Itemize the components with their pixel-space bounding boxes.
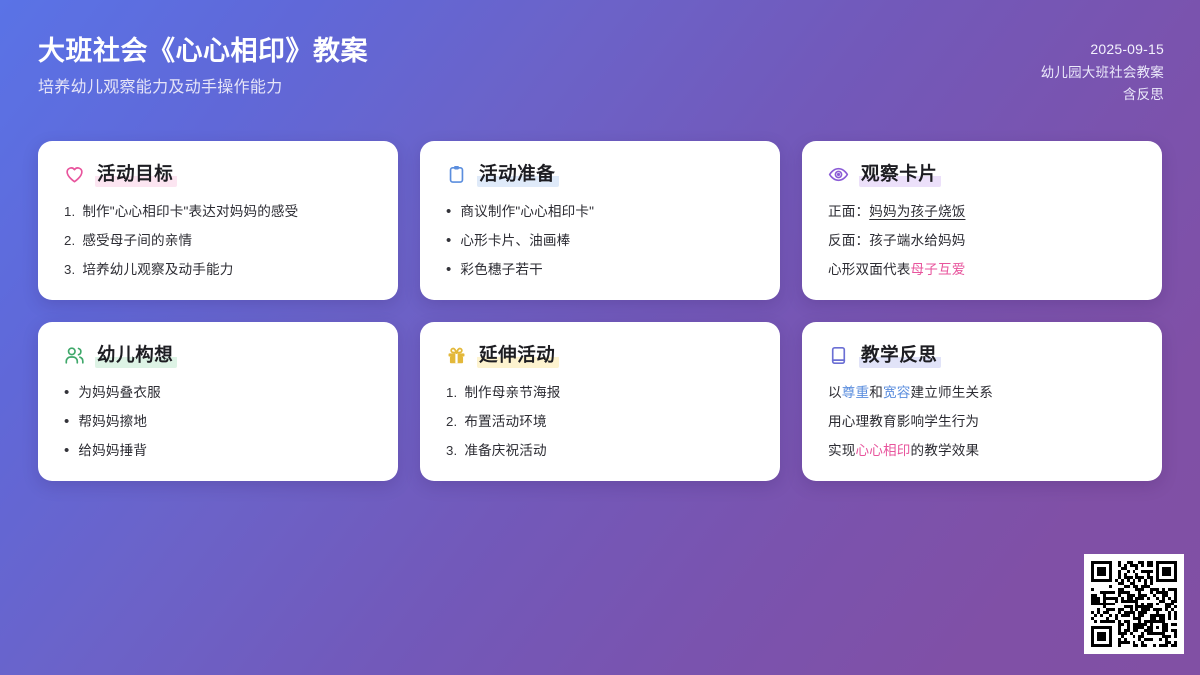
list-marker: •	[64, 385, 69, 400]
card-title: 活动目标	[95, 162, 177, 187]
qr-code[interactable]	[1084, 554, 1184, 654]
card-header: 活动目标	[64, 162, 374, 187]
list-item-text: 制作"心心相印卡"表达对妈妈的感受	[82, 203, 374, 221]
card-line: 心形双面代表母子互爱	[828, 261, 1138, 279]
header-left: 大班社会《心心相印》教案 培养幼儿观察能力及动手操作能力	[38, 34, 368, 98]
line-text: 建立师生关系	[911, 385, 993, 400]
book-icon	[828, 345, 849, 366]
line-text: 实现	[828, 443, 856, 458]
list-item-text: 准备庆祝活动	[464, 442, 756, 460]
card-line: 实现心心相印的教学效果	[828, 442, 1138, 460]
list-marker: •	[64, 414, 69, 429]
line-text: 以	[828, 385, 842, 400]
list-item: •商议制作"心心相印卡"	[446, 203, 756, 221]
card-activity-preparation: 活动准备•商议制作"心心相印卡"•心形卡片、油画棒•彩色穗子若干	[420, 141, 780, 300]
list-item-text: 为妈妈叠衣服	[78, 384, 374, 402]
list-item: •彩色穗子若干	[446, 261, 756, 279]
list-item: 3.培养幼儿观察及动手能力	[64, 261, 374, 279]
meta-date: 2025-09-15	[1090, 38, 1164, 62]
line-text: 正面：	[828, 204, 869, 219]
card-observation-card: 观察卡片正面：妈妈为孩子烧饭反面：孩子端水给妈妈心形双面代表母子互爱	[802, 141, 1162, 300]
list-item-text: 布置活动环境	[464, 413, 756, 431]
card-line: 正面：妈妈为孩子烧饭	[828, 203, 1138, 221]
card-title: 教学反思	[859, 343, 941, 368]
card-line: 以尊重和宽容建立师生关系	[828, 384, 1138, 402]
list-item-text: 制作母亲节海报	[464, 384, 756, 402]
emphasis-underline: 妈妈为孩子烧饭	[869, 204, 965, 219]
card-header: 教学反思	[828, 343, 1138, 368]
card-title: 观察卡片	[859, 162, 941, 187]
card-body: •商议制作"心心相印卡"•心形卡片、油画棒•彩色穗子若干	[446, 203, 756, 279]
gift-icon	[446, 345, 467, 366]
page-title: 大班社会《心心相印》教案	[38, 34, 368, 69]
list-marker: 3.	[446, 442, 457, 460]
card-children-ideas: 幼儿构想•为妈妈叠衣服•帮妈妈擦地•给妈妈捶背	[38, 322, 398, 481]
meta-note: 含反思	[1123, 84, 1164, 107]
list-item: •帮妈妈擦地	[64, 413, 374, 431]
card-line: 反面：孩子端水给妈妈	[828, 232, 1138, 250]
list-item-text: 彩色穗子若干	[460, 261, 756, 279]
line-text: 心形双面代表	[828, 262, 910, 277]
list-item: 1.制作母亲节海报	[446, 384, 756, 402]
users-icon	[64, 345, 85, 366]
list-item: 1.制作"心心相印卡"表达对妈妈的感受	[64, 203, 374, 221]
card-header: 延伸活动	[446, 343, 756, 368]
list-item: •心形卡片、油画棒	[446, 232, 756, 250]
line-text: 反面：孩子端水给妈妈	[828, 233, 965, 248]
list-marker: •	[446, 262, 451, 277]
list-item-text: 心形卡片、油画棒	[460, 232, 756, 250]
list-item: •给妈妈捶背	[64, 442, 374, 460]
list-item: 2.感受母子间的亲情	[64, 232, 374, 250]
card-title: 活动准备	[477, 162, 559, 187]
card-header: 观察卡片	[828, 162, 1138, 187]
list-marker: •	[446, 204, 451, 219]
card-grid: 活动目标1.制作"心心相印卡"表达对妈妈的感受2.感受母子间的亲情3.培养幼儿观…	[38, 141, 1162, 481]
page-header: 大班社会《心心相印》教案 培养幼儿观察能力及动手操作能力 2025-09-15 …	[0, 0, 1200, 130]
list-marker: •	[64, 443, 69, 458]
card-header: 活动准备	[446, 162, 756, 187]
line-text: 和	[869, 385, 883, 400]
card-body: 1.制作"心心相印卡"表达对妈妈的感受2.感受母子间的亲情3.培养幼儿观察及动手…	[64, 203, 374, 279]
card-body: •为妈妈叠衣服•帮妈妈擦地•给妈妈捶背	[64, 384, 374, 460]
list-marker: 3.	[64, 261, 75, 279]
card-extended-activity: 延伸活动1.制作母亲节海报2.布置活动环境3.准备庆祝活动	[420, 322, 780, 481]
list-item-text: 给妈妈捶背	[78, 442, 374, 460]
card-body: 正面：妈妈为孩子烧饭反面：孩子端水给妈妈心形双面代表母子互爱	[828, 203, 1138, 279]
list-item-text: 商议制作"心心相印卡"	[460, 203, 756, 221]
heart-icon	[64, 164, 85, 185]
list-item: 2.布置活动环境	[446, 413, 756, 431]
page-subtitle: 培养幼儿观察能力及动手操作能力	[38, 78, 368, 99]
list-item: 3.准备庆祝活动	[446, 442, 756, 460]
meta-category: 幼儿园大班社会教案	[1041, 62, 1164, 85]
list-item: •为妈妈叠衣服	[64, 384, 374, 402]
emphasis-blue: 尊重	[842, 385, 870, 400]
list-item-text: 帮妈妈擦地	[78, 413, 374, 431]
emphasis-pink: 母子互爱	[910, 262, 965, 277]
eye-icon	[828, 164, 849, 185]
card-body: 1.制作母亲节海报2.布置活动环境3.准备庆祝活动	[446, 384, 756, 460]
card-header: 幼儿构想	[64, 343, 374, 368]
list-marker: 1.	[446, 384, 457, 402]
list-marker: 1.	[64, 203, 75, 221]
qr-code-matrix	[1091, 561, 1177, 647]
list-item-text: 培养幼儿观察及动手能力	[82, 261, 374, 279]
card-activity-goal: 活动目标1.制作"心心相印卡"表达对妈妈的感受2.感受母子间的亲情3.培养幼儿观…	[38, 141, 398, 300]
card-body: 以尊重和宽容建立师生关系用心理教育影响学生行为实现心心相印的教学效果	[828, 384, 1138, 460]
card-title: 延伸活动	[477, 343, 559, 368]
clipboard-icon	[446, 164, 467, 185]
header-meta: 2025-09-15 幼儿园大班社会教案 含反思	[1041, 34, 1164, 107]
card-teaching-reflection: 教学反思以尊重和宽容建立师生关系用心理教育影响学生行为实现心心相印的教学效果	[802, 322, 1162, 481]
list-marker: 2.	[446, 413, 457, 431]
list-marker: •	[446, 233, 451, 248]
line-text: 用心理教育影响学生行为	[828, 414, 979, 429]
list-item-text: 感受母子间的亲情	[82, 232, 374, 250]
emphasis-pink: 心心相印	[856, 443, 911, 458]
card-line: 用心理教育影响学生行为	[828, 413, 1138, 431]
line-text: 的教学效果	[910, 443, 979, 458]
list-marker: 2.	[64, 232, 75, 250]
emphasis-blue: 宽容	[883, 385, 911, 400]
card-title: 幼儿构想	[95, 343, 177, 368]
